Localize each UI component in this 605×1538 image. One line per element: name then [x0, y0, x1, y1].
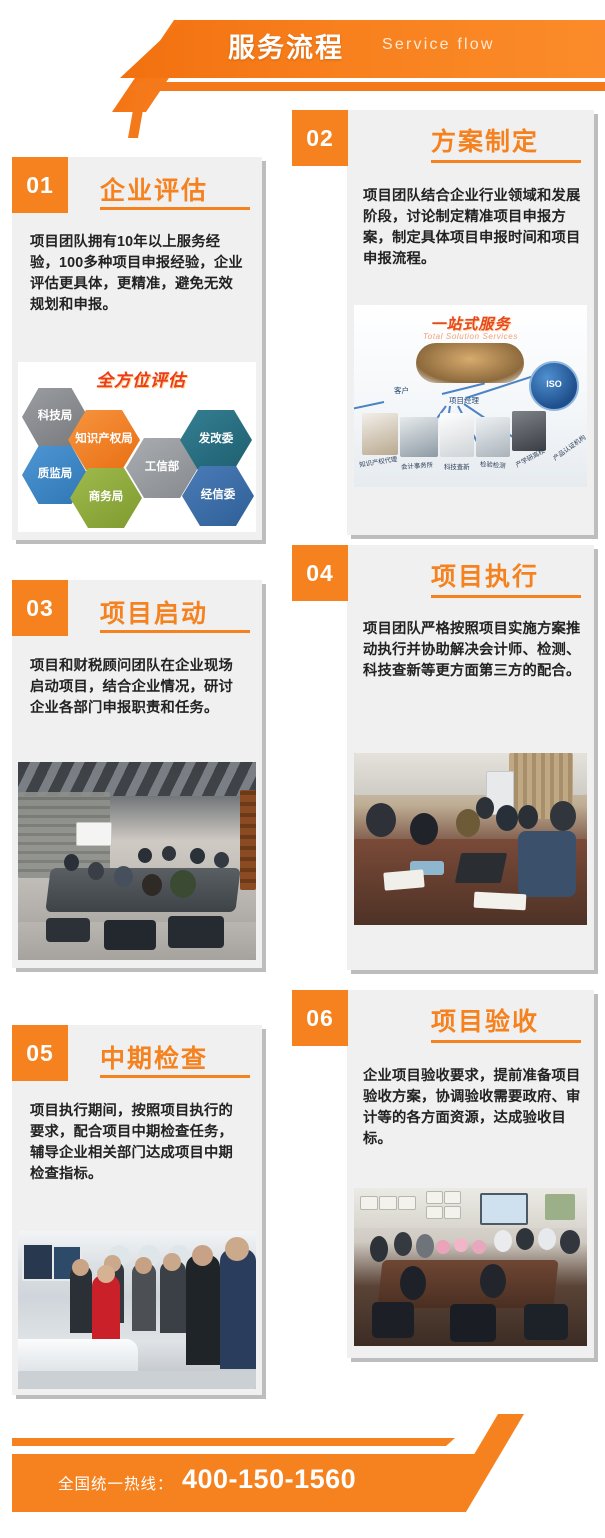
hotline-label: 全国统一热线： — [58, 1472, 174, 1494]
hexagon-node-label: 质监局 — [38, 468, 73, 481]
card-number-badge: 01 — [12, 157, 68, 213]
diagram-label-customer: 客户 — [394, 385, 409, 396]
diagram-heading: 一站式服务 — [354, 313, 587, 334]
card-photo — [18, 762, 256, 960]
card-number-badge: 05 — [12, 1025, 68, 1081]
page-footer: 全国统一热线： 400-150-1560 — [0, 1408, 605, 1538]
card-number-badge: 04 — [292, 545, 348, 601]
header-banner-underline — [128, 82, 605, 91]
step-card-05: 中期检查 项目执行期间，按照项目执行的要求，配合项目中期检查任务，辅导企业相关部… — [12, 1025, 262, 1395]
diagram-caption: 检验检测 — [480, 459, 506, 470]
card-body-text: 项目团队结合企业行业领域和发展阶段，讨论制定精准项目申报方案，制定具体项目申报时… — [363, 186, 581, 271]
card-photo — [354, 753, 587, 925]
footer-accent-line — [12, 1438, 455, 1446]
title-underline — [100, 1075, 250, 1078]
card-number-badge: 06 — [292, 990, 348, 1046]
card-number-badge: 03 — [12, 580, 68, 636]
diagram-caption: 科技查新 — [444, 462, 470, 471]
step-card-04: 项目执行 项目团队严格按照项目实施方案推动执行并协助解决会计师、检测、科技查新等… — [347, 545, 594, 970]
card-title: 项目执行 — [431, 557, 539, 593]
card-photo — [354, 1188, 587, 1346]
page-title: 服务流程 — [228, 26, 344, 65]
page-subtitle: Service flow — [382, 36, 495, 54]
poster-canvas: 服务流程 Service flow 企业评估 项目团队拥有10年以上服务经验，1… — [0, 0, 605, 1538]
title-underline — [431, 160, 581, 163]
title-underline — [100, 207, 250, 210]
step-card-03: 项目启动 项目和财税顾问团队在企业现场启动项目，结合企业情况，研讨企业各部门申报… — [12, 580, 262, 968]
title-underline — [431, 1040, 581, 1043]
hexagon-node-label: 知识产权局 — [75, 433, 133, 446]
hotline-number[interactable]: 400-150-1560 — [182, 1464, 356, 1495]
diagram-thumb — [362, 413, 398, 455]
card-title: 项目启动 — [100, 594, 208, 630]
iso-seal-icon — [529, 361, 579, 411]
diagram-thumb — [400, 417, 438, 457]
card-title: 方案制定 — [431, 122, 539, 158]
title-underline — [431, 595, 581, 598]
card-body-text: 项目团队严格按照项目实施方案推动执行并协助解决会计师、检测、科技查新等更方面第三… — [363, 619, 581, 682]
step-card-01: 企业评估 项目团队拥有10年以上服务经验，100多种项目申报经验，企业评估更具体… — [12, 157, 262, 540]
hexagon-node-label: 科技局 — [38, 410, 73, 423]
card-body-text: 项目团队拥有10年以上服务经验，100多种项目申报经验，企业评估更具体，更精准，… — [30, 232, 244, 317]
diagram-center-photo — [416, 343, 524, 383]
card-body-text: 项目执行期间，按照项目执行的要求，配合项目中期检查任务，辅导企业相关部门达成项目… — [30, 1101, 244, 1186]
diagram-thumb — [512, 411, 546, 451]
card-title: 企业评估 — [100, 171, 208, 207]
page-header: 服务流程 Service flow — [0, 0, 605, 112]
hexagon-chart-heading: 全方位评估 — [96, 366, 186, 391]
card-photo — [18, 1231, 256, 1389]
card-title: 中期检查 — [100, 1039, 208, 1075]
hexagon-node-label: 商务局 — [89, 491, 124, 504]
hexagon-node-label: 发改委 — [199, 433, 234, 446]
hexagon-chart: 全方位评估 科技局 知识产权局 质监局 商务局 工信部 发改委 — [18, 362, 256, 532]
card-title: 项目验收 — [431, 1002, 539, 1038]
one-stop-service-diagram: 一站式服务 Total Solution Services 客户 项目经理 — [354, 305, 587, 487]
diagram-thumb — [476, 417, 510, 457]
header-banner — [120, 20, 605, 78]
card-body-text: 项目和财税顾问团队在企业现场启动项目，结合企业情况，研讨企业各部门申报职责和任务… — [30, 656, 244, 719]
title-underline — [100, 630, 250, 633]
step-card-02: 方案制定 项目团队结合企业行业领域和发展阶段，讨论制定精准项目申报方案，制定具体… — [347, 110, 594, 535]
card-body-text: 企业项目验收要求，提前准备项目验收方案，协调验收需要政府、审计等的各方面资源，达… — [363, 1066, 581, 1151]
diagram-subheading: Total Solution Services — [354, 332, 587, 341]
card-number-badge: 02 — [292, 110, 348, 166]
diagram-thumb — [440, 413, 474, 457]
hexagon-node-label: 工信部 — [145, 461, 180, 474]
hexagon-node-label: 经信委 — [201, 489, 236, 502]
step-card-06: 项目验收 企业项目验收要求，提前准备项目验收方案，协调验收需要政府、审计等的各方… — [347, 990, 594, 1358]
